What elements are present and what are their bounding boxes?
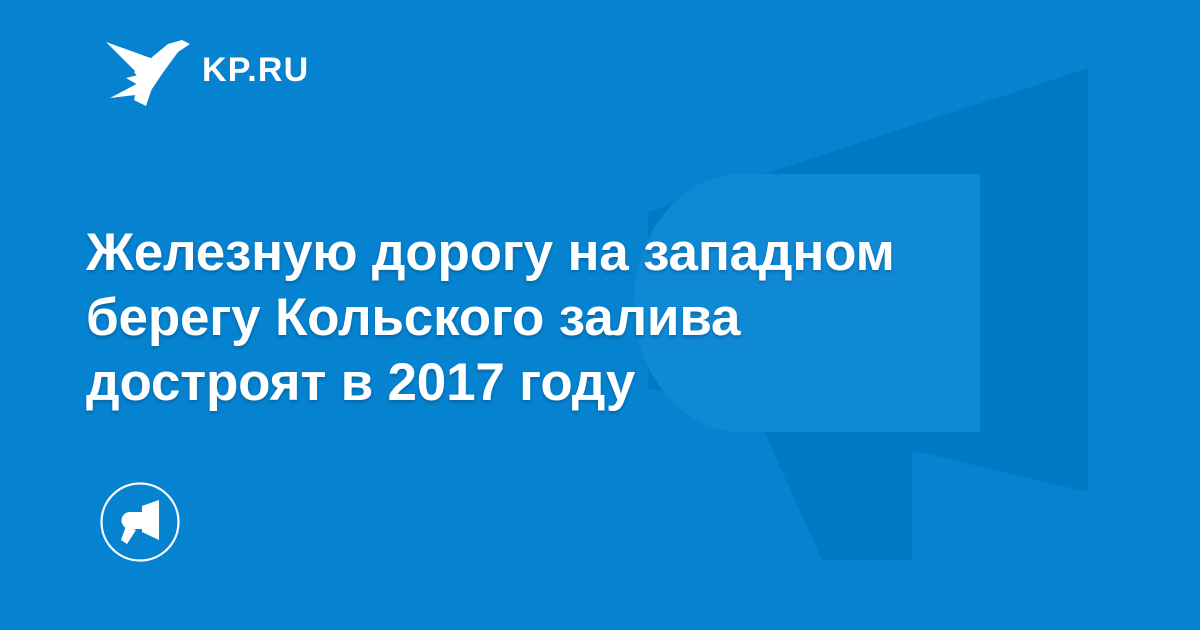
headline-line-2: берегу Кольского залива [86,285,1046,350]
headline-line-3: достроят в 2017 году [86,350,1046,415]
brand-name: KP.RU [202,53,309,87]
megaphone-icon [100,482,180,562]
brand-logo[interactable]: KP.RU [104,34,309,106]
headline: Железную дорогу на западном берегу Кольс… [86,220,1046,415]
share-card: KP.RU Железную дорогу на западном берегу… [0,0,1200,630]
megaphone-badge[interactable] [100,482,180,562]
swallow-bird-icon [104,34,190,106]
headline-line-1: Железную дорогу на западном [86,220,1046,285]
